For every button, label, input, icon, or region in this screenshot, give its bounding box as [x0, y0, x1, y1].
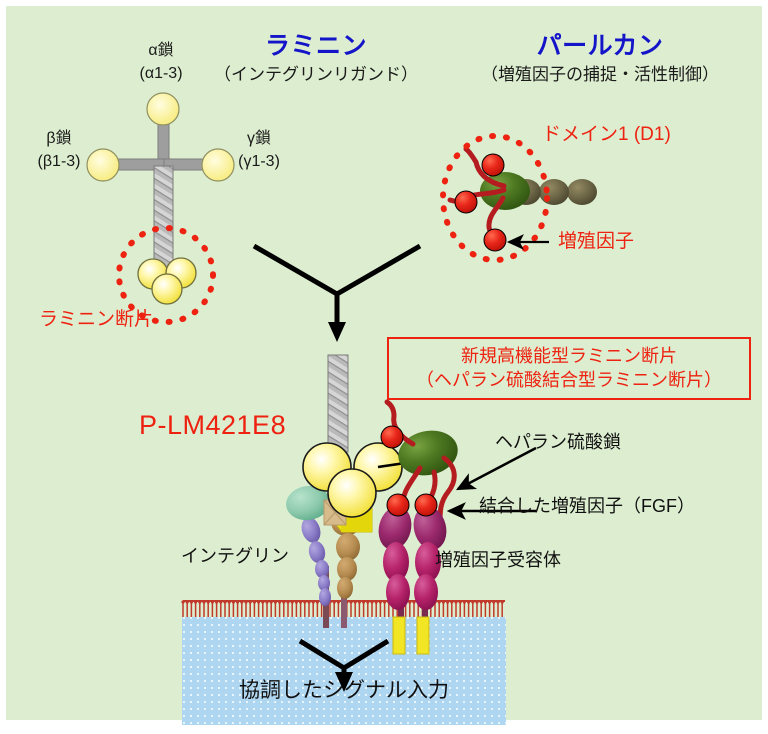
- alpha-chain-range: (α1-3): [139, 65, 182, 83]
- growth-factor-receptor-label: 増殖因子受容体: [435, 550, 561, 571]
- gamma-chain-head: [202, 149, 234, 181]
- lg-domain-3: [152, 274, 182, 304]
- callout-line-1: 新規高機能型ラミニン断片: [397, 344, 741, 368]
- fgfr-kinase-1: [393, 617, 405, 654]
- growth-factor-label: 増殖因子: [558, 231, 634, 253]
- perlecan-bead-4: [567, 179, 597, 205]
- laminin-title: ラミニン: [265, 32, 367, 61]
- laminin-subtitle: （インテグリンリガンド）: [214, 65, 418, 85]
- perlecan-title: パールカン: [537, 32, 664, 61]
- product-name-label: P-LM421E8: [139, 410, 286, 441]
- integrin-label: インテグリン: [181, 546, 289, 567]
- free-growth-factor: [381, 426, 403, 448]
- gamma-chain-range: (γ1-3): [238, 153, 280, 171]
- beta-chain-label: β鎖: [46, 130, 71, 148]
- gamma-chain-label: γ鎖: [247, 130, 271, 148]
- hs-chain-pointer: [458, 448, 536, 489]
- signal-input-label: 協調したシグナル入力: [239, 679, 449, 703]
- merge-arrow: [254, 246, 420, 342]
- growth-factor-ball-2: [455, 191, 477, 213]
- heparan-sulfate-chain-label: ヘパラン硫酸鎖: [495, 432, 621, 453]
- alpha-chain-head: [147, 93, 179, 125]
- alpha-chain-label: α鎖: [148, 42, 173, 60]
- beta-chain-range: (β1-3): [38, 153, 81, 171]
- figure-canvas: ラミニン （インテグリンリガンド） パールカン （増殖因子の捕捉・活性制御） α…: [6, 6, 762, 720]
- integrin-beta-chain: [298, 515, 331, 606]
- e8-lg-domain-3: [328, 469, 376, 517]
- growth-factor-ball-1: [482, 154, 504, 176]
- perlecan-bead-3: [539, 179, 569, 205]
- bound-growth-factor-label: 結合した増殖因子（FGF）: [479, 496, 695, 517]
- figure-root: ラミニン （インテグリンリガンド） パールカン （増殖因子の捕捉・活性制御） α…: [0, 0, 768, 734]
- fgfr-receptor-left: [374, 503, 416, 610]
- domain1-label: ドメイン1 (D1): [542, 124, 671, 146]
- e8-coiled-coil: [328, 355, 348, 452]
- new-fragment-callout: 新規高機能型ラミニン断片 （ヘパラン硫酸結合型ラミニン断片）: [387, 337, 751, 400]
- bound-fgf-2: [415, 494, 437, 516]
- perlecan-subtitle: （増殖因子の捕捉・活性制御）: [481, 65, 719, 85]
- bound-fgf-1: [387, 494, 409, 516]
- growth-factor-ball-3: [484, 229, 506, 251]
- laminin-fragment-label: ラミニン断片: [39, 309, 153, 331]
- fgfr-kinase-2: [417, 617, 429, 654]
- laminin-cross-molecule: [87, 93, 234, 322]
- callout-line-2: （ヘパラン硫酸結合型ラミニン断片）: [397, 368, 741, 392]
- beta-chain-head: [87, 149, 119, 181]
